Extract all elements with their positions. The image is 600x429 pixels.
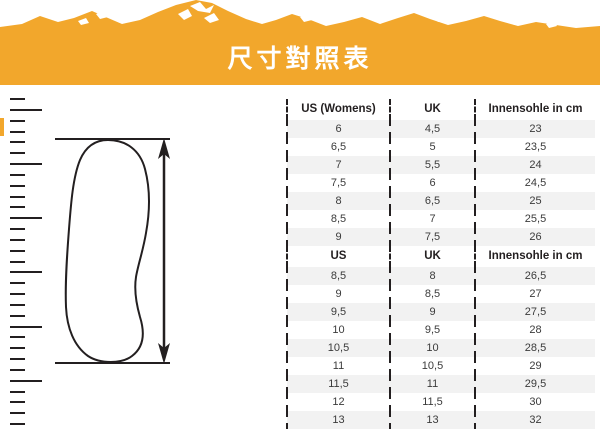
shoe-measurement-diagram bbox=[50, 125, 185, 380]
ruler-minor-tick bbox=[10, 315, 25, 317]
cell-cm: 24,5 bbox=[475, 174, 595, 192]
cell-cm: 29,5 bbox=[475, 375, 595, 393]
column-header-us: US bbox=[287, 246, 390, 267]
shoe-sole-outline bbox=[66, 140, 149, 362]
column-header-uk: UK bbox=[390, 246, 475, 267]
cell-uk: 5 bbox=[390, 138, 475, 156]
table-header-row: US (Womens) UK Innensohle in cm bbox=[287, 99, 595, 120]
table-row: 12 11,5 30 bbox=[287, 393, 595, 411]
ruler-minor-tick bbox=[10, 250, 25, 252]
cell-uk: 10,5 bbox=[390, 357, 475, 375]
table-row: 8,5 7 25,5 bbox=[287, 210, 595, 228]
cell-us: 8,5 bbox=[287, 210, 390, 228]
cell-uk: 5,5 bbox=[390, 156, 475, 174]
cell-cm: 27,5 bbox=[475, 303, 595, 321]
cell-uk: 9,5 bbox=[390, 321, 475, 339]
cell-cm: 26,5 bbox=[475, 267, 595, 285]
ruler-minor-tick bbox=[10, 401, 25, 403]
cell-us: 9,5 bbox=[287, 303, 390, 321]
cell-us: 6,5 bbox=[287, 138, 390, 156]
cell-uk: 10 bbox=[390, 339, 475, 357]
column-header-us: US (Womens) bbox=[287, 99, 390, 120]
cell-us: 7 bbox=[287, 156, 390, 174]
table-row: 13 13 32 bbox=[287, 411, 595, 429]
cell-cm: 23,5 bbox=[475, 138, 595, 156]
cell-cm: 26 bbox=[475, 228, 595, 246]
cell-cm: 32 bbox=[475, 411, 595, 429]
womens-size-table: US (Womens) UK Innensohle in cm 6 4,5 23… bbox=[286, 99, 594, 246]
mens-size-table: US UK Innensohle in cm 8,5 8 26,5 9 8,5 … bbox=[286, 246, 594, 429]
ruler-minor-tick bbox=[10, 282, 25, 284]
cell-uk: 8,5 bbox=[390, 285, 475, 303]
ruler-minor-tick bbox=[10, 412, 25, 414]
ruler-major-tick bbox=[10, 380, 42, 382]
table-row: 9 8,5 27 bbox=[287, 285, 595, 303]
ruler-major-tick bbox=[10, 217, 42, 219]
cell-cm: 27 bbox=[475, 285, 595, 303]
length-measure-arrow bbox=[158, 138, 170, 364]
cell-us: 10 bbox=[287, 321, 390, 339]
cell-uk: 6,5 bbox=[390, 192, 475, 210]
cell-uk: 13 bbox=[390, 411, 475, 429]
ruler-minor-tick bbox=[10, 239, 25, 241]
cell-cm: 28 bbox=[475, 321, 595, 339]
column-header-cm: Innensohle in cm bbox=[475, 246, 595, 267]
ruler-minor-tick bbox=[10, 293, 25, 295]
cell-us: 9 bbox=[287, 228, 390, 246]
cell-cm: 29 bbox=[475, 357, 595, 375]
header-banner: 尺寸對照表 bbox=[0, 0, 600, 86]
ruler-minor-tick bbox=[10, 196, 25, 198]
ruler-minor-tick bbox=[10, 391, 25, 393]
size-table: US UK Innensohle in cm 8,5 8 26,5 9 8,5 … bbox=[286, 246, 595, 429]
cell-uk: 11,5 bbox=[390, 393, 475, 411]
cell-uk: 9 bbox=[390, 303, 475, 321]
table-row: 8 6,5 25 bbox=[287, 192, 595, 210]
ruler-minor-tick bbox=[10, 185, 25, 187]
ruler-minor-tick bbox=[10, 141, 25, 143]
table-row: 9,5 9 27,5 bbox=[287, 303, 595, 321]
cell-us: 13 bbox=[287, 411, 390, 429]
table-row: 6,5 5 23,5 bbox=[287, 138, 595, 156]
ruler-minor-tick bbox=[10, 120, 25, 122]
ruler-minor-tick bbox=[10, 261, 25, 263]
ruler-minor-tick bbox=[10, 131, 25, 133]
ruler-minor-tick bbox=[10, 369, 25, 371]
measuring-ruler bbox=[10, 98, 52, 423]
cell-us: 11,5 bbox=[287, 375, 390, 393]
cell-cm: 28,5 bbox=[475, 339, 595, 357]
cell-uk: 8 bbox=[390, 267, 475, 285]
cell-us: 11 bbox=[287, 357, 390, 375]
cell-us: 10,5 bbox=[287, 339, 390, 357]
ruler-major-tick bbox=[10, 271, 42, 273]
ruler-minor-tick bbox=[10, 347, 25, 349]
left-accent-bar bbox=[0, 118, 4, 136]
table-row: 11 10,5 29 bbox=[287, 357, 595, 375]
page-title: 尺寸對照表 bbox=[0, 33, 600, 85]
ruler-minor-tick bbox=[10, 304, 25, 306]
cell-uk: 11 bbox=[390, 375, 475, 393]
ruler-minor-tick bbox=[10, 174, 25, 176]
table-row: 7,5 6 24,5 bbox=[287, 174, 595, 192]
ruler-major-tick bbox=[10, 326, 42, 328]
cell-uk: 4,5 bbox=[390, 120, 475, 138]
table-row: 8,5 8 26,5 bbox=[287, 267, 595, 285]
ruler-major-tick bbox=[10, 163, 42, 165]
cell-us: 8,5 bbox=[287, 267, 390, 285]
table-row: 10,5 10 28,5 bbox=[287, 339, 595, 357]
table-row: 10 9,5 28 bbox=[287, 321, 595, 339]
ruler-major-tick bbox=[10, 109, 42, 111]
ruler-minor-tick bbox=[10, 228, 25, 230]
size-chart-page: 尺寸對照表 US (Womens) U bbox=[0, 0, 600, 425]
cell-cm: 25 bbox=[475, 192, 595, 210]
table-row: 6 4,5 23 bbox=[287, 120, 595, 138]
table-row: 9 7,5 26 bbox=[287, 228, 595, 246]
ruler-minor-tick bbox=[10, 152, 25, 154]
cell-cm: 24 bbox=[475, 156, 595, 174]
cell-us: 6 bbox=[287, 120, 390, 138]
cell-us: 12 bbox=[287, 393, 390, 411]
cell-uk: 6 bbox=[390, 174, 475, 192]
table-row: 11,5 11 29,5 bbox=[287, 375, 595, 393]
size-table: US (Womens) UK Innensohle in cm 6 4,5 23… bbox=[286, 99, 595, 246]
column-header-cm: Innensohle in cm bbox=[475, 99, 595, 120]
cell-cm: 25,5 bbox=[475, 210, 595, 228]
cell-uk: 7,5 bbox=[390, 228, 475, 246]
ruler-minor-tick bbox=[10, 98, 25, 100]
cell-cm: 23 bbox=[475, 120, 595, 138]
cell-us: 8 bbox=[287, 192, 390, 210]
cell-us: 9 bbox=[287, 285, 390, 303]
cell-uk: 7 bbox=[390, 210, 475, 228]
ruler-minor-tick bbox=[10, 336, 25, 338]
table-header-row: US UK Innensohle in cm bbox=[287, 246, 595, 267]
ruler-minor-tick bbox=[10, 358, 25, 360]
table-row: 7 5,5 24 bbox=[287, 156, 595, 174]
ruler-minor-tick bbox=[10, 206, 25, 208]
column-header-uk: UK bbox=[390, 99, 475, 120]
cell-cm: 30 bbox=[475, 393, 595, 411]
cell-us: 7,5 bbox=[287, 174, 390, 192]
